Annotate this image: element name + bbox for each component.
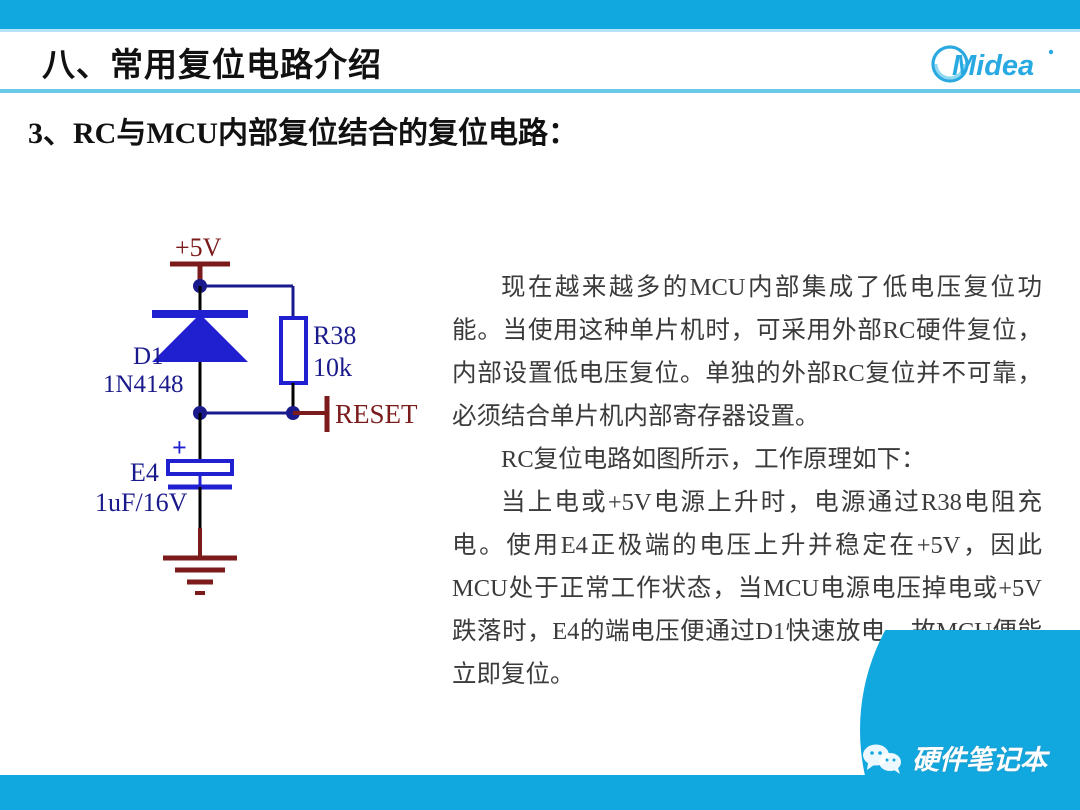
svg-text:Midea: Midea — [952, 50, 1034, 82]
cap-polarity-label: + — [172, 433, 187, 462]
page-subtitle: 3、RC与MCU内部复位结合的复位电路： — [28, 108, 578, 152]
explanation-text-block: 现在越来越多的MCU内部集成了低电压复位功能。当使用这种单片机时，可采用外部RC… — [452, 266, 1042, 696]
reset-net-label: RESET — [335, 399, 418, 429]
paragraph-2: RC复位电路如图所示，工作原理如下： — [452, 438, 1042, 481]
page-title: 八、常用复位电路介绍 — [42, 38, 382, 86]
resistor-ref-label: R38 — [313, 321, 356, 350]
diode-ref-label: D1 — [133, 343, 164, 370]
capacitor-e4-plate-positive — [168, 461, 232, 474]
paragraph-1: 现在越来越多的MCU内部集成了低电压复位功能。当使用这种单片机时，可采用外部RC… — [452, 266, 1042, 438]
midea-logo: Midea — [922, 40, 1062, 88]
supply-label: +5V — [175, 233, 222, 262]
reset-circuit-schematic: +5V D1 1N4148 R38 10k RESET + E4 — [95, 228, 445, 603]
cap-ref-label: E4 — [130, 458, 159, 487]
ground-symbol — [163, 528, 237, 593]
watermark: 硬件笔记本 — [860, 738, 1047, 777]
resistor-r38-symbol — [281, 318, 306, 383]
diode-part-label: 1N4148 — [103, 371, 184, 398]
watermark-label: 硬件笔记本 — [912, 738, 1047, 777]
paragraph-3: 当上电或+5V电源上升时，电源通过R38电阻充电。使用E4正极端的电压上升并稳定… — [452, 481, 1042, 696]
title-underline-rule — [0, 89, 1080, 93]
wechat-icon — [860, 742, 904, 774]
bottom-accent-bar — [0, 775, 1080, 810]
top-accent-bar — [0, 0, 1080, 29]
cap-value-label: 1uF/16V — [95, 488, 188, 517]
slide-canvas: 八、常用复位电路介绍 Midea 3、RC与MCU内部复位结合的复位电路： +5… — [0, 0, 1080, 810]
resistor-value-label: 10k — [313, 353, 352, 382]
